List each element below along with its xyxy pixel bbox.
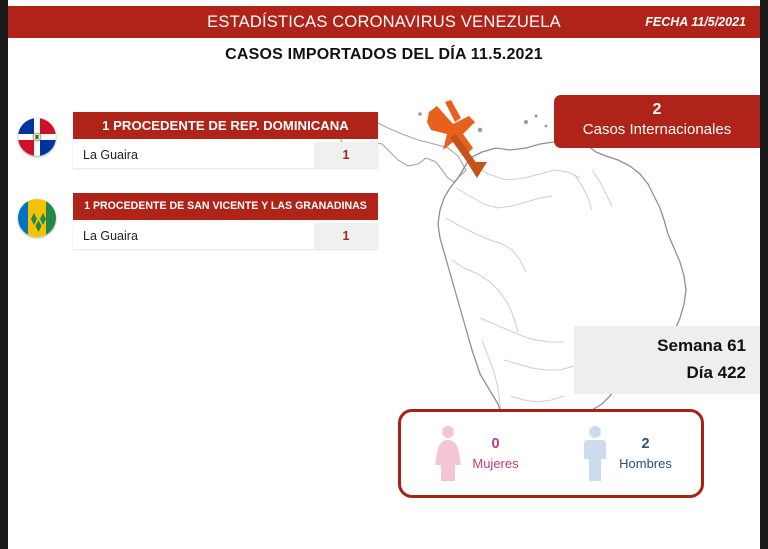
international-cases-badge: 2 Casos Internacionales <box>554 95 760 148</box>
case-block: 1 PROCEDENTE DE SAN VICENTE Y LAS GRANAD… <box>18 193 378 256</box>
header-date: FECHA 11/5/2021 <box>645 6 746 38</box>
page-title: CASOS IMPORTADOS DEL DÍA 11.5.2021 <box>8 46 760 64</box>
case-block: 1 PROCEDENTE DE REP. DOMINICANA La Guair… <box>18 112 378 175</box>
airplane-arrow-group <box>415 96 525 186</box>
male-figure-icon <box>580 425 610 483</box>
men-count: 2 <box>619 435 672 454</box>
day-label: Día 422 <box>574 359 746 386</box>
gender-item-women: 0 Mujeres <box>401 425 551 483</box>
gender-item-men: 2 Hombres <box>551 425 701 483</box>
international-cases-count: 2 <box>554 100 760 120</box>
women-count: 0 <box>472 435 518 454</box>
case-heading: 1 PROCEDENTE DE SAN VICENTE Y LAS GRANAD… <box>73 193 378 220</box>
case-location: La Guaira <box>73 142 314 168</box>
case-count: 1 <box>314 142 378 168</box>
imported-cases-list: 1 PROCEDENTE DE REP. DOMINICANA La Guair… <box>18 112 378 274</box>
page-edge-right <box>760 0 768 549</box>
gender-breakdown-box: 0 Mujeres 2 Hombres <box>398 409 704 498</box>
table-row: La Guaira 1 <box>73 223 378 249</box>
men-label: Hombres <box>619 454 672 473</box>
women-label: Mujeres <box>472 454 518 473</box>
page-edge-left <box>0 0 8 549</box>
infographic-slide: ESTADÍSTICAS CORONAVIRUS VENEZUELA FECHA… <box>0 0 768 549</box>
case-count: 1 <box>314 223 378 249</box>
week-label: Semana 61 <box>574 332 746 359</box>
airplane-icon <box>427 100 475 154</box>
header-bar: ESTADÍSTICAS CORONAVIRUS VENEZUELA FECHA… <box>8 6 760 38</box>
female-figure-icon <box>433 425 463 483</box>
arrow-head-icon <box>467 162 487 178</box>
period-box: Semana 61 Día 422 <box>574 326 760 394</box>
flag-saint-vincent-grenadines-icon <box>18 199 56 237</box>
international-cases-label: Casos Internacionales <box>554 120 760 140</box>
case-location: La Guaira <box>73 223 314 249</box>
table-row: La Guaira 1 <box>73 142 378 168</box>
flag-dominican-republic-icon <box>18 118 56 156</box>
case-heading: 1 PROCEDENTE DE REP. DOMINICANA <box>73 112 378 139</box>
